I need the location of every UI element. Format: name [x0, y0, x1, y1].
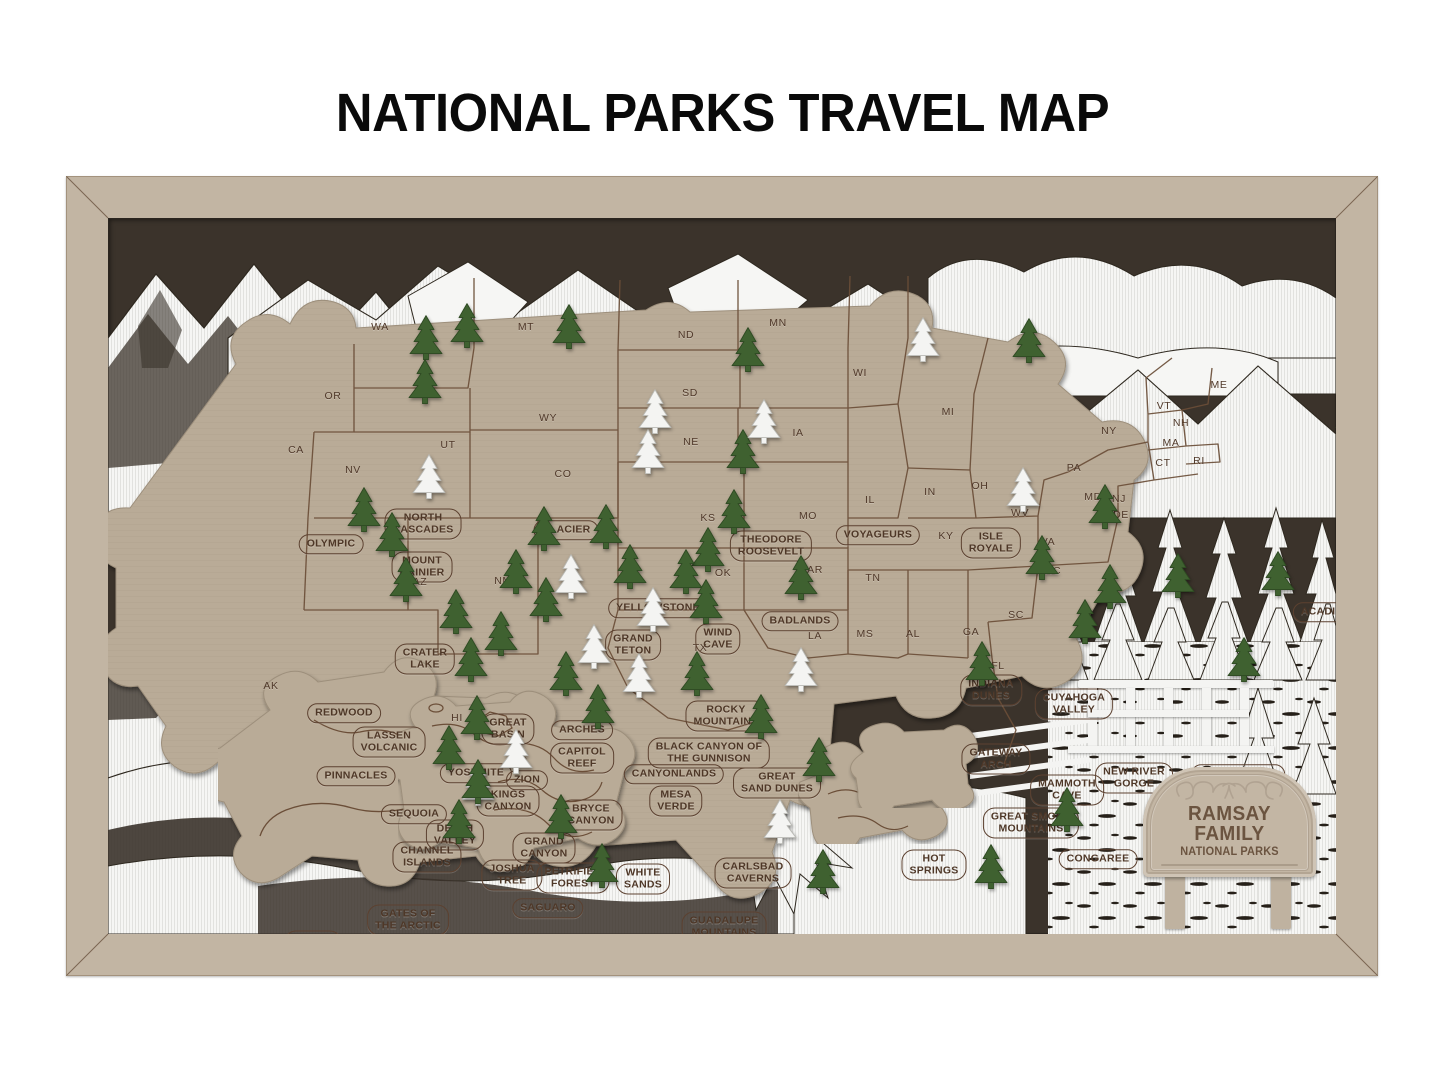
- state-label-mi: MI: [942, 406, 955, 418]
- pine-tree-icon[interactable]: [529, 577, 563, 623]
- pine-tree-icon[interactable]: [389, 557, 423, 603]
- pine-tree-icon[interactable]: [585, 843, 619, 889]
- park-label-isle-royale[interactable]: ISLE ROYALE: [961, 528, 1021, 559]
- park-label-gateway-arch[interactable]: GATEWAY ARCH: [961, 744, 1030, 775]
- sign-line-2: FAMILY: [1147, 823, 1311, 846]
- state-label-oh: OH: [972, 480, 989, 492]
- park-label-olympic[interactable]: OLYMPIC: [299, 534, 364, 554]
- state-label-nh: NH: [1173, 417, 1189, 429]
- pine-tree-icon[interactable]: [1068, 599, 1102, 645]
- pine-tree-icon[interactable]: [549, 651, 583, 697]
- pine-tree-icon[interactable]: [1227, 637, 1261, 683]
- pine-tree-icon[interactable]: [631, 429, 665, 475]
- wooden-frame: WAORMTIDWYNDSDNEMNIAWIMIILINOHKSMOOKARTX…: [66, 176, 1378, 976]
- state-label-in: IN: [924, 486, 936, 498]
- poster-page: NATIONAL PARKS TRAVEL MAP: [0, 0, 1445, 1084]
- pine-tree-icon[interactable]: [1012, 318, 1046, 364]
- park-label-pinnacles[interactable]: PINNACLES: [317, 766, 396, 786]
- pine-tree-icon[interactable]: [412, 454, 446, 500]
- pine-tree-icon[interactable]: [965, 641, 999, 687]
- sign-line-1: RAMSAY: [1147, 803, 1311, 826]
- pine-tree-icon[interactable]: [375, 512, 409, 558]
- pine-tree-icon[interactable]: [454, 637, 488, 683]
- park-label-crater-lake[interactable]: CRATER LAKE: [395, 644, 455, 675]
- sign-divider-rule: [1161, 864, 1298, 866]
- pine-tree-icon[interactable]: [1335, 389, 1336, 435]
- pine-tree-icon[interactable]: [499, 549, 533, 595]
- state-label-sc: SC: [1008, 609, 1024, 621]
- pine-tree-icon[interactable]: [784, 555, 818, 601]
- park-label-joshua-tree[interactable]: JOSHUA TREE: [481, 860, 542, 891]
- park-label-white-sands[interactable]: WHITE SANDS: [616, 864, 670, 895]
- pine-tree-icon[interactable]: [1088, 484, 1122, 530]
- pine-tree-icon[interactable]: [802, 737, 836, 783]
- pine-tree-icon[interactable]: [544, 794, 578, 840]
- pine-tree-icon[interactable]: [622, 653, 656, 699]
- pine-tree-icon[interactable]: [499, 729, 533, 775]
- pine-tree-icon[interactable]: [906, 317, 940, 363]
- pine-tree-icon[interactable]: [1050, 787, 1084, 833]
- pine-tree-icon[interactable]: [974, 844, 1008, 890]
- state-label-il: IL: [865, 494, 875, 506]
- state-label-pa: PA: [1067, 462, 1081, 474]
- state-label-nv: NV: [345, 464, 361, 476]
- state-label-mo: MO: [799, 510, 817, 522]
- park-label-hot-springs[interactable]: HOT SPRINGS: [901, 850, 966, 881]
- park-label-guadalupe-mountains[interactable]: GUADALUPE MOUNTAINS: [682, 912, 767, 935]
- park-label-saguaro[interactable]: SAGUARO: [512, 898, 583, 918]
- park-label-voyageurs[interactable]: VOYAGEURS: [836, 525, 920, 545]
- pine-tree-icon[interactable]: [784, 647, 818, 693]
- pine-tree-icon[interactable]: [1161, 553, 1195, 599]
- park-label-carlsbad-caverns[interactable]: CARLSBAD CAVERNS: [715, 858, 792, 889]
- state-label-me: ME: [1211, 379, 1228, 391]
- pine-tree-icon[interactable]: [450, 303, 484, 349]
- park-label-cuyahoga-valley[interactable]: CUYAHOGA VALLEY: [1035, 689, 1113, 720]
- pine-tree-icon[interactable]: [439, 589, 473, 635]
- pine-tree-icon[interactable]: [689, 579, 723, 625]
- state-label-wy: WY: [539, 412, 557, 424]
- state-label-al: AL: [906, 628, 920, 640]
- map-artwork-area: WAORMTIDWYNDSDNEMNIAWIMIILINOHKSMOOKARTX…: [108, 218, 1336, 934]
- state-label-ms: MS: [857, 628, 874, 640]
- virgin-islands-landmass: [848, 718, 978, 808]
- pine-tree-icon[interactable]: [747, 399, 781, 445]
- state-label-mn: MN: [769, 317, 787, 329]
- park-label-mesa-verde[interactable]: MESA VERDE: [649, 786, 702, 817]
- state-label-wa: WA: [371, 321, 389, 333]
- state-label-co: CO: [555, 468, 572, 480]
- pine-tree-icon[interactable]: [1006, 467, 1040, 513]
- pine-tree-icon[interactable]: [552, 304, 586, 350]
- state-label-ut: UT: [440, 439, 455, 451]
- pine-tree-icon[interactable]: [581, 684, 615, 730]
- park-label-gates-of-the-arctic[interactable]: GATES OF THE ARCTIC: [367, 905, 449, 935]
- pine-tree-icon[interactable]: [409, 315, 443, 361]
- pine-tree-icon[interactable]: [442, 799, 476, 845]
- state-label-sd: SD: [682, 387, 698, 399]
- state-label-nd: ND: [678, 329, 694, 341]
- state-label-ri: RI: [1193, 455, 1205, 467]
- state-label-ks: KS: [700, 512, 715, 524]
- state-label-mt: MT: [518, 321, 534, 333]
- sign-board: RAMSAY FAMILY NATIONAL PARKS: [1143, 767, 1316, 877]
- state-label-wi: WI: [853, 367, 867, 379]
- state-label-ca: CA: [288, 444, 304, 456]
- park-label-redwood[interactable]: REDWOOD: [307, 703, 381, 723]
- scrollwork-ornament: [1167, 776, 1292, 802]
- state-label-ga: GA: [963, 626, 979, 638]
- pine-tree-icon[interactable]: [1261, 551, 1295, 597]
- pine-tree-icon[interactable]: [484, 611, 518, 657]
- pine-tree-icon[interactable]: [731, 327, 765, 373]
- state-label-tn: TN: [865, 572, 880, 584]
- pine-tree-icon[interactable]: [1025, 535, 1059, 581]
- pine-tree-icon[interactable]: [527, 506, 561, 552]
- state-label-ky: KY: [938, 530, 953, 542]
- pine-tree-icon[interactable]: [744, 694, 778, 740]
- pine-tree-icon[interactable]: [806, 849, 840, 895]
- state-label-ia: IA: [792, 427, 803, 439]
- state-label-ak: AK: [263, 680, 278, 692]
- park-label-lassen-volcanic[interactable]: LASSEN VOLCANIC: [353, 727, 426, 758]
- park-label-acadia[interactable]: ACADIA: [1293, 602, 1336, 622]
- state-label-or: OR: [325, 390, 342, 402]
- family-name-sign: RAMSAY FAMILY NATIONAL PARKS: [1143, 767, 1316, 932]
- state-label-ct: CT: [1155, 457, 1170, 469]
- park-label-congaree[interactable]: CONGAREE: [1059, 849, 1138, 869]
- pine-tree-icon[interactable]: [613, 544, 647, 590]
- sign-line-3: NATIONAL PARKS: [1147, 846, 1311, 858]
- page-title: NATIONAL PARKS TRAVEL MAP: [43, 82, 1401, 144]
- state-label-ma: MA: [1163, 437, 1180, 449]
- state-label-la: LA: [808, 630, 822, 642]
- pine-tree-icon[interactable]: [636, 587, 670, 633]
- state-label-ne: NE: [683, 436, 699, 448]
- state-label-vt: VT: [1157, 400, 1172, 412]
- park-label-channel-islands[interactable]: CHANNEL ISLANDS: [392, 842, 461, 873]
- park-label-capitol-reef[interactable]: CAPITOL REEF: [550, 743, 614, 774]
- park-label-badlands[interactable]: BADLANDS: [762, 611, 839, 631]
- pine-tree-icon[interactable]: [763, 799, 797, 845]
- pine-tree-icon[interactable]: [408, 359, 442, 405]
- park-label-canyonlands[interactable]: CANYONLANDS: [624, 764, 724, 784]
- park-label-kobuk-valley[interactable]: KOBUK VALLEY: [284, 931, 342, 935]
- pine-tree-icon[interactable]: [680, 651, 714, 697]
- state-label-ny: NY: [1101, 425, 1117, 437]
